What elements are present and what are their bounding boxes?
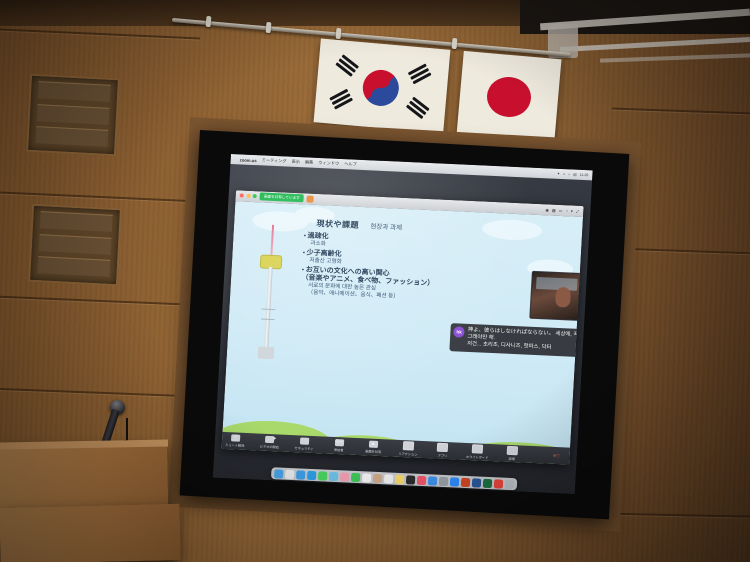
reactions-label: リアクション <box>398 451 417 457</box>
view-icon[interactable]: ▦ <box>552 207 556 212</box>
smiley-icon <box>403 441 414 450</box>
wall-vent-lower <box>28 204 122 287</box>
reactions-button[interactable]: リアクション <box>395 441 421 457</box>
slide-bullet-list: 過疎化 과소화 少子高齢化 저출산 고령화 お互いの文化への高い関心 （音楽やア… <box>300 232 543 309</box>
start-video-button[interactable]: ビデオの開始 <box>256 435 282 449</box>
close-icon[interactable] <box>240 194 244 198</box>
unmute-label: ミュート解除 <box>225 442 244 448</box>
whiteboard-label: ホワイトボード <box>466 454 489 460</box>
end-meeting-label: 終了 <box>553 453 560 458</box>
photos-icon[interactable] <box>340 472 349 481</box>
zoom-titlebar-icons[interactable]: ◉ ▦ ▭ ◔ ▾ ⤢ <box>545 207 579 214</box>
reminders-icon[interactable] <box>384 474 393 483</box>
facetime-icon[interactable] <box>351 472 360 481</box>
menubar-clock[interactable]: 11:29 <box>580 173 589 177</box>
rod-clip-4 <box>452 38 458 49</box>
share-screen-icon <box>369 440 378 447</box>
whiteboard-button[interactable]: ホワイトボード <box>464 444 490 460</box>
slide-title-ko: 현장과 과제 <box>370 223 402 231</box>
lecture-hall-photo: zoom.us ミーティング 表示 編集 ウィンドウ ヘルプ ✦ ◗ ⌕ ▤ 1… <box>0 0 750 562</box>
chevron-down-icon[interactable]: ▾ <box>571 208 573 213</box>
start-video-label: ビデオの開始 <box>260 443 279 449</box>
trigram-top-right <box>408 63 433 86</box>
maximize-icon[interactable] <box>253 194 257 198</box>
tv-icon[interactable] <box>406 475 415 484</box>
caption-text: 神よ、彼らはしなければならない。 세상에, 꼭 그래야만 해. 저건... 초리… <box>467 327 582 354</box>
live-caption-overlay: hk 神よ、彼らはしなければならない。 세상에, 꼭 그래야만 해. 저건...… <box>450 323 583 357</box>
excel-icon[interactable] <box>483 478 492 487</box>
participants-button[interactable]: 参加者 <box>326 438 352 452</box>
minimize-icon[interactable] <box>246 194 250 198</box>
shield-icon <box>300 437 309 444</box>
security-button[interactable]: セキュリティ <box>291 437 317 451</box>
rod-clip-1 <box>206 16 212 27</box>
microphone-muted-icon <box>231 434 240 441</box>
rod-clip-3 <box>336 28 342 39</box>
japan-flag <box>457 51 562 143</box>
music-icon[interactable] <box>417 475 426 484</box>
cloud-3 <box>482 218 543 241</box>
menu-edit[interactable]: 編集 <box>305 159 314 165</box>
contacts-icon[interactable] <box>373 473 382 482</box>
share-screen-label: 画面を共有 <box>365 448 381 454</box>
end-meeting-button[interactable]: 終了 <box>544 452 570 458</box>
participants-label: 参加者 <box>334 447 344 452</box>
messages-icon[interactable] <box>318 471 327 480</box>
menu-view[interactable]: 表示 <box>291 159 300 165</box>
more-label: 詳細 <box>508 456 515 461</box>
participants-icon[interactable]: ◔ <box>565 208 568 213</box>
avatar: hk <box>453 326 465 337</box>
appstore-icon[interactable] <box>428 476 437 485</box>
trigram-bottom-right <box>405 97 430 121</box>
security-label: セキュリティ <box>294 445 313 451</box>
menu-help[interactable]: ヘルプ <box>344 161 357 168</box>
window-traffic-lights[interactable] <box>240 194 257 199</box>
menu-window[interactable]: ウィンドウ <box>318 160 339 167</box>
camera-icon[interactable]: ▭ <box>559 208 563 213</box>
ellipsis-icon <box>506 446 517 455</box>
projection-screen: zoom.us ミーティング 表示 編集 ウィンドウ ヘルプ ✦ ◗ ⌕ ▤ 1… <box>213 154 593 494</box>
maps-icon[interactable] <box>329 471 338 480</box>
zoom-meeting-window[interactable]: 画面を共有しています ◉ ▦ ▭ ◔ ▾ ⤢ <box>222 190 584 465</box>
trash-icon[interactable] <box>505 479 514 488</box>
participant-video-thumbnail[interactable] <box>530 270 583 320</box>
launchpad-icon[interactable] <box>285 469 294 478</box>
recording-icon[interactable]: ◉ <box>545 207 549 212</box>
zoom-icon[interactable] <box>450 477 459 486</box>
wall-vent-upper <box>26 74 120 157</box>
menu-meeting[interactable]: ミーティング <box>262 157 287 164</box>
camera-off-icon <box>265 436 274 443</box>
slide-title: 現状や課題 현장과 과제 <box>316 213 403 235</box>
grid-icon <box>437 442 448 451</box>
thumbnail-person <box>555 287 572 307</box>
taegeuk-symbol <box>361 68 400 107</box>
more-button[interactable]: 詳細 <box>499 445 525 461</box>
apps-button[interactable]: アプリ <box>430 442 456 458</box>
notes-icon[interactable] <box>395 474 404 483</box>
share-screen-button[interactable]: 画面を共有 <box>360 440 386 454</box>
safari-icon[interactable] <box>296 470 305 479</box>
unmute-button[interactable]: ミュート解除 <box>222 434 248 448</box>
word-icon[interactable] <box>472 478 481 487</box>
stop-share-button[interactable] <box>307 195 314 202</box>
control-center-icon[interactable]: ▤ <box>573 173 577 177</box>
chrome-icon[interactable] <box>494 479 503 488</box>
mail-icon[interactable] <box>307 470 316 479</box>
n-seoul-tower-illustration <box>251 224 289 365</box>
calendar-icon[interactable] <box>362 473 371 482</box>
trigram-top-left <box>334 54 359 78</box>
apps-label: アプリ <box>438 452 448 457</box>
slide-title-ja: 現状や課題 <box>316 219 359 230</box>
podium-lower-panel <box>0 504 181 562</box>
system-settings-icon[interactable] <box>439 476 448 485</box>
fullscreen-icon[interactable]: ⤢ <box>576 208 579 213</box>
menubar-app-name[interactable]: zoom.us <box>240 157 257 163</box>
south-korea-flag <box>314 38 451 133</box>
powerpoint-icon[interactable] <box>461 477 470 486</box>
search-icon[interactable]: ⌕ <box>568 172 570 176</box>
board-icon <box>472 444 483 453</box>
bluetooth-icon[interactable]: ✦ <box>557 172 560 176</box>
people-icon <box>334 439 343 446</box>
finder-icon[interactable] <box>274 469 283 478</box>
shared-presentation-slide: 現状や課題 현장과 과제 過疎化 과소화 少子高齢化 저출산 고령화 お互いの文… <box>222 201 583 465</box>
screen-share-banner: 画面を共有しています <box>260 192 304 202</box>
hinomaru-disc <box>485 75 532 119</box>
trigram-bottom-left <box>329 89 354 112</box>
rod-clip-2 <box>266 22 272 33</box>
wifi-icon[interactable]: ◗ <box>563 172 565 176</box>
